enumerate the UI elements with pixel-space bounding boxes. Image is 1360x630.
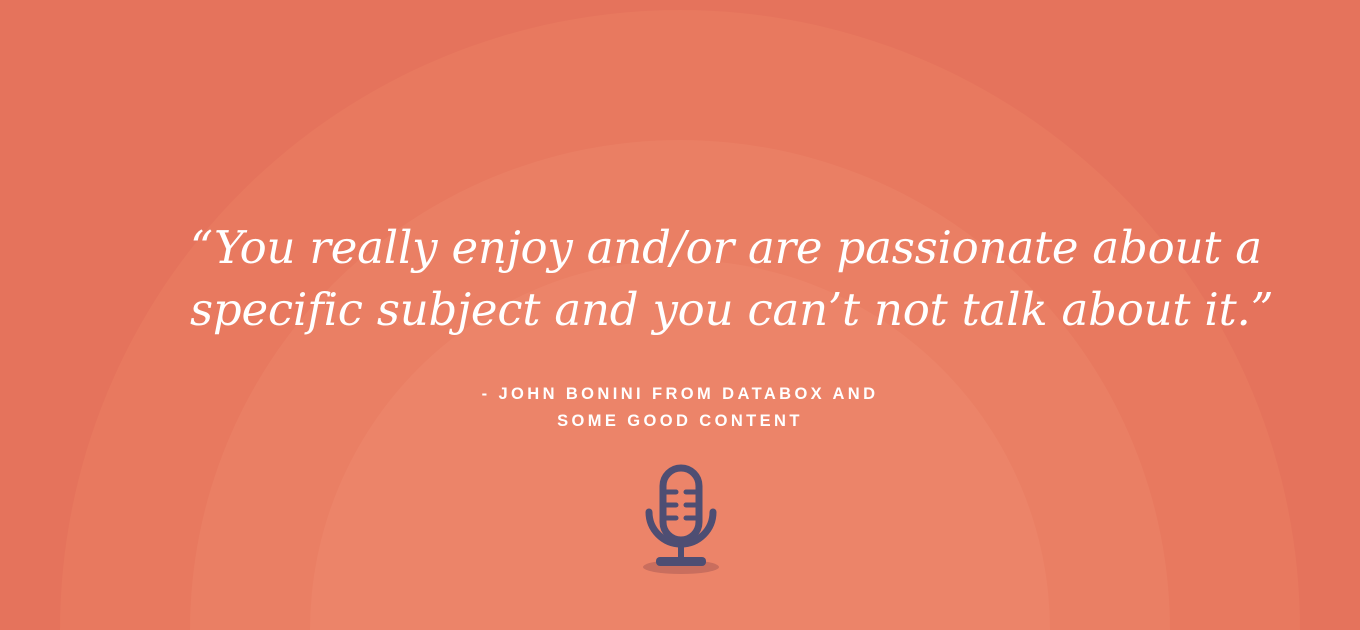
attribution-line-2: Some Good Content [0, 408, 1360, 435]
quote-card: “You really enjoy and/or are passionate … [0, 0, 1360, 630]
attribution-line-1: - John Bonini from Databox and [0, 381, 1360, 408]
card-content: “You really enjoy and/or are passionate … [0, 0, 1360, 630]
quote-text: “You really enjoy and/or are passionate … [40, 217, 1320, 341]
microphone-icon [630, 455, 730, 580]
microphone-grille [666, 492, 696, 518]
quote-line-2: specific subject and you can’t not talk … [190, 279, 1170, 341]
quote-line-1: “You really enjoy and/or are passionate … [190, 217, 1170, 279]
microphone-base [656, 557, 706, 566]
quote-attribution: - John Bonini from Databox and Some Good… [0, 381, 1360, 435]
